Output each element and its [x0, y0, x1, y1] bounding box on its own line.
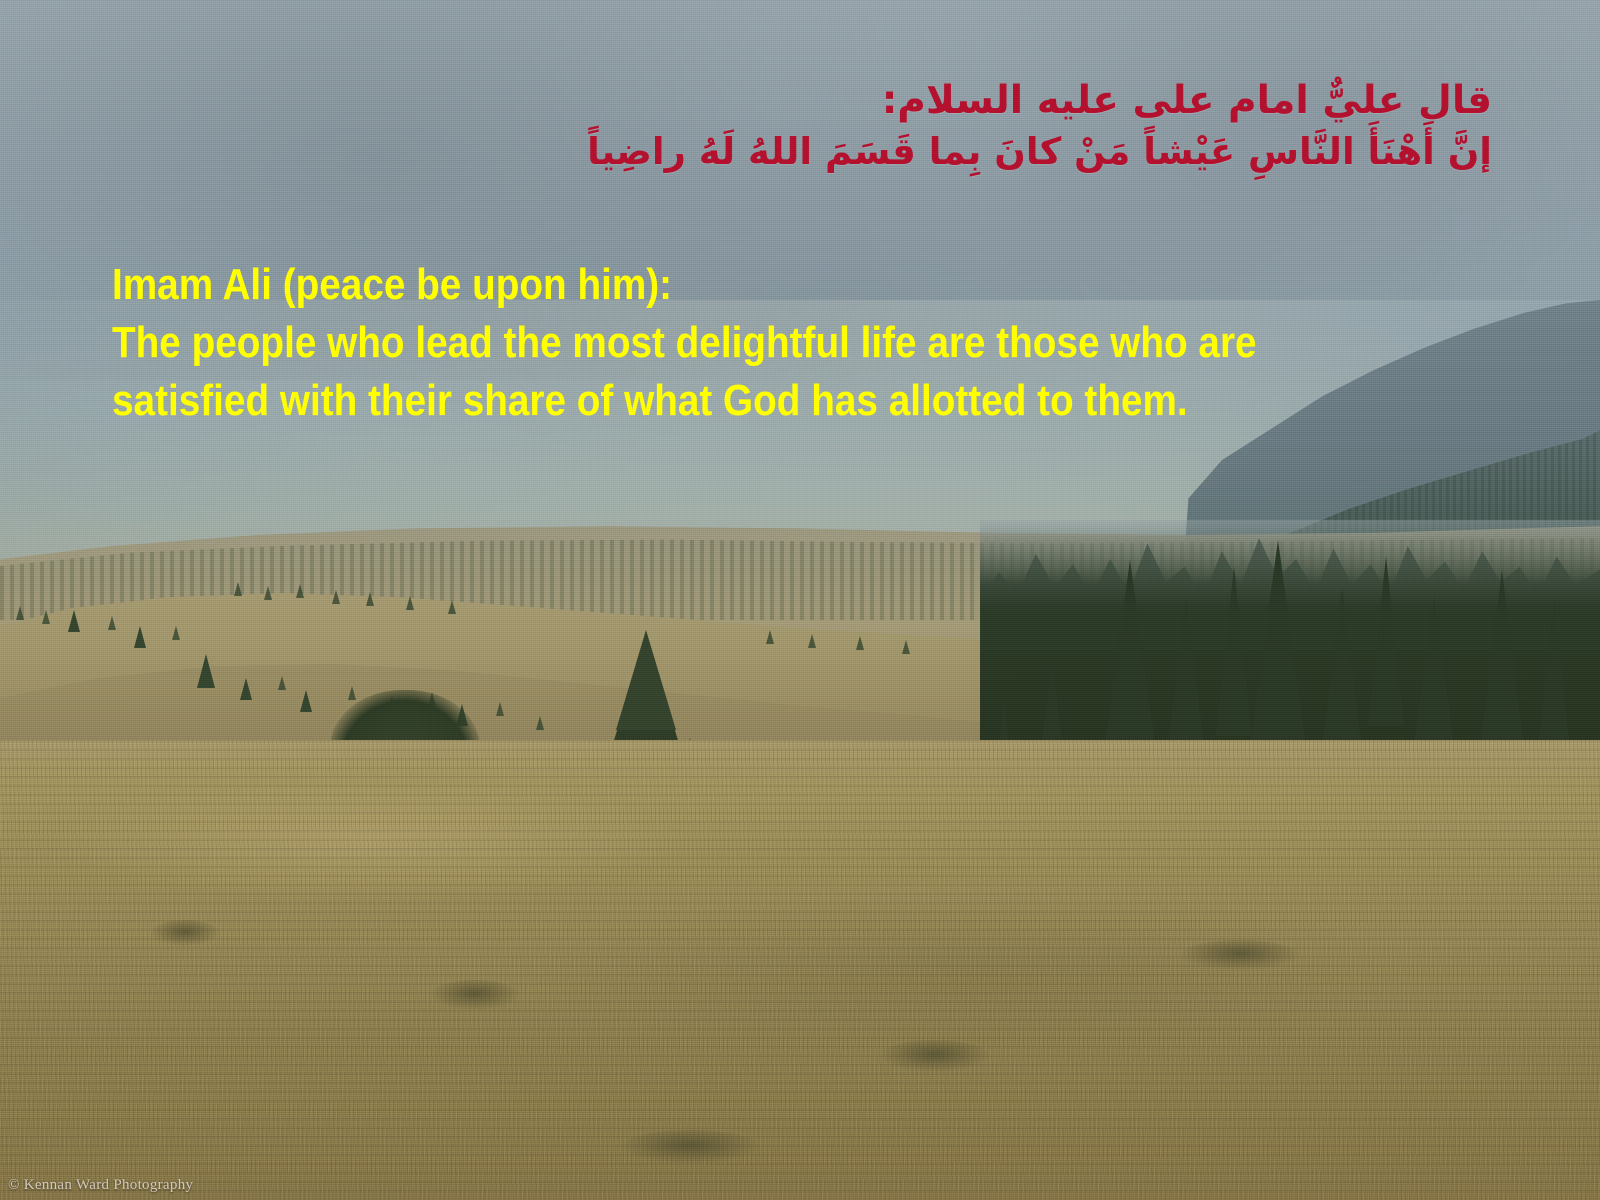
slide-canvas: قال عليٌّ امام على عليه السلام: إنَّ أَه…	[0, 0, 1600, 1200]
sagebrush	[620, 1130, 760, 1164]
english-quote-line-2: satisfied with their share of what God h…	[112, 372, 1257, 430]
foreground-meadow	[0, 740, 1600, 1200]
lone-conifer-upper-canopy	[616, 630, 676, 730]
english-quote-line-1: The people who lead the most delightful …	[112, 314, 1257, 372]
sagebrush	[880, 1040, 990, 1072]
arabic-quote-line-2: إنَّ أَهْنَأَ النَّاسِ عَيْشاً مَنْ كانَ…	[392, 127, 1492, 177]
english-quote-attribution: Imam Ali (peace be upon him):	[112, 256, 1257, 314]
sagebrush	[430, 980, 520, 1010]
sagebrush	[150, 920, 220, 946]
photo-credit: © Kennan Ward Photography	[8, 1177, 193, 1194]
arabic-quote: قال عليٌّ امام على عليه السلام: إنَّ أَه…	[392, 74, 1492, 177]
sagebrush	[1180, 940, 1300, 970]
grass-texture	[0, 740, 1600, 1200]
english-quote: Imam Ali (peace be upon him): The people…	[112, 256, 1257, 430]
arabic-quote-line-1: قال عليٌّ امام على عليه السلام:	[392, 74, 1492, 127]
